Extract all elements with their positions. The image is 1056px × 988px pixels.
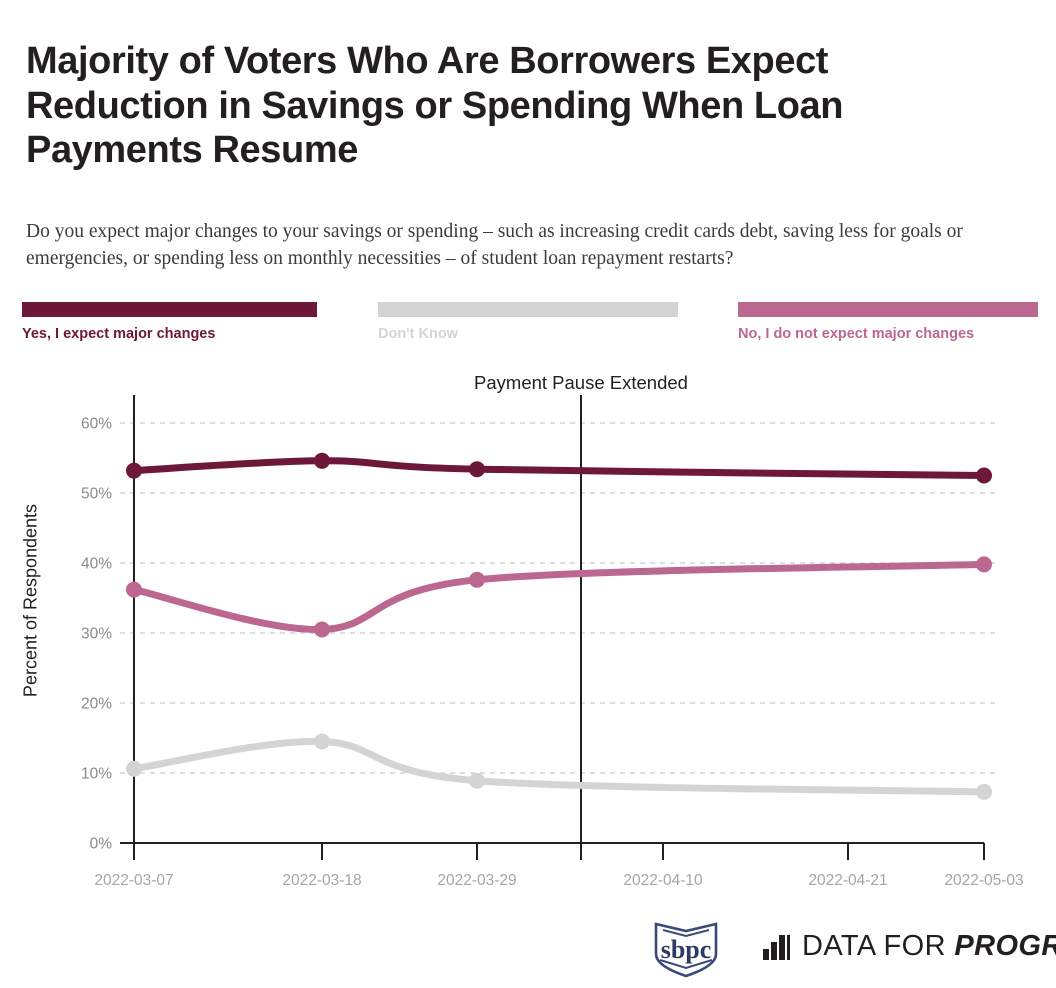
data-point-marker[interactable]: [976, 468, 992, 484]
data-point-marker[interactable]: [126, 582, 142, 598]
series-line: [134, 564, 984, 629]
legend-item-dont-know[interactable]: Don't Know: [378, 302, 678, 342]
legend-swatch-yes: [22, 302, 317, 317]
data-for-progress-text: DATA FOR PROGRESS: [802, 930, 1056, 963]
x-tick-label: 2022-03-07: [94, 872, 173, 889]
sbpc-logo: sbpc: [646, 918, 726, 985]
y-tick-label: 40%: [81, 556, 112, 573]
y-tick-label: 10%: [81, 766, 112, 783]
data-point-marker[interactable]: [314, 622, 330, 638]
x-tick-label: 2022-04-21: [808, 872, 887, 889]
legend-item-no[interactable]: No, I do not expect major changes: [738, 302, 1038, 342]
data-point-marker[interactable]: [469, 461, 485, 477]
legend-label-no: No, I do not expect major changes: [738, 326, 1038, 342]
bar-chart-icon: [762, 933, 792, 961]
data-point-marker[interactable]: [314, 453, 330, 469]
line-chart-svg: 0%10%20%30%40%50%60%2022-03-072022-03-18…: [0, 372, 1056, 892]
y-tick-label: 20%: [81, 696, 112, 713]
y-tick-label: 30%: [81, 626, 112, 643]
legend-swatch-dont-know: [378, 302, 678, 317]
x-tick-label: 2022-05-03: [944, 872, 1023, 889]
page-title: Majority of Voters Who Are Borrowers Exp…: [26, 39, 986, 172]
y-tick-label: 0%: [90, 836, 113, 853]
y-tick-label: 60%: [81, 416, 112, 433]
x-tick-label: 2022-03-18: [282, 872, 361, 889]
data-point-marker[interactable]: [976, 784, 992, 800]
data-for-progress-logo: DATA FOR PROGRESS: [762, 930, 1056, 963]
legend-label-yes: Yes, I expect major changes: [22, 326, 317, 342]
data-point-marker[interactable]: [976, 556, 992, 572]
legend-swatch-no: [738, 302, 1038, 317]
data-point-marker[interactable]: [126, 463, 142, 479]
legend-item-yes[interactable]: Yes, I expect major changes: [22, 302, 317, 342]
data-point-marker[interactable]: [314, 734, 330, 750]
data-point-marker[interactable]: [126, 761, 142, 777]
legend-label-dont-know: Don't Know: [378, 326, 678, 342]
series-line: [134, 461, 984, 476]
data-point-marker[interactable]: [469, 773, 485, 789]
series-line: [134, 741, 984, 792]
y-tick-label: 50%: [81, 486, 112, 503]
chart-legend: Yes, I expect major changes Don't Know N…: [22, 302, 1034, 358]
x-tick-label: 2022-03-29: [437, 872, 516, 889]
x-tick-label: 2022-04-10: [623, 872, 703, 889]
chart-area: Payment Pause Extended Percent of Respon…: [0, 372, 1056, 902]
data-point-marker[interactable]: [469, 572, 485, 588]
shield-icon: sbpc: [646, 918, 726, 980]
chart-page: Majority of Voters Who Are Borrowers Exp…: [0, 0, 1056, 988]
svg-text:sbpc: sbpc: [661, 935, 712, 964]
chart-subtitle: Do you expect major changes to your savi…: [26, 218, 976, 273]
chart-footer: sbpc DATA FOR PROGRESS: [0, 908, 1056, 988]
